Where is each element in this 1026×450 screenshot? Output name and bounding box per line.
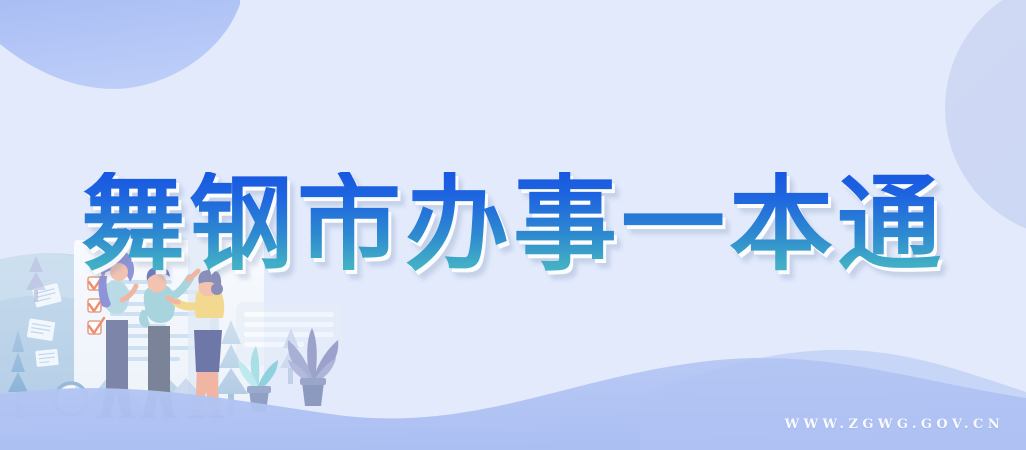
bottom-wave [0, 0, 1026, 450]
site-banner: 舞钢市办事一本通 WWW.ZGWG.GOV.CN [0, 0, 1026, 450]
site-watermark: WWW.ZGWG.GOV.CN [785, 417, 1004, 432]
